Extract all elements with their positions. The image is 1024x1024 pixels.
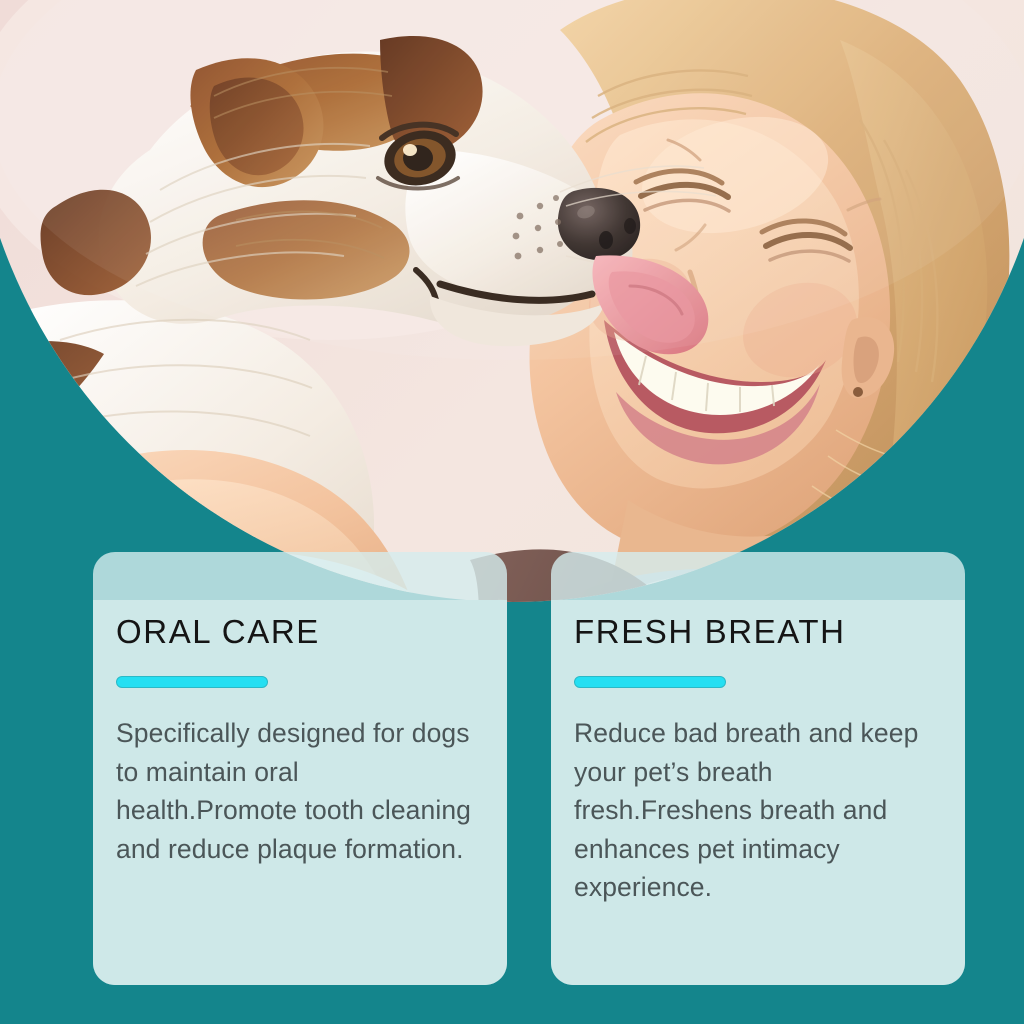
accent-bar-fresh-breath bbox=[574, 676, 726, 688]
accent-bar-oral-care bbox=[116, 676, 268, 688]
feature-card-fresh-breath[interactable]: FRESH BREATH Reduce bad breath and keep … bbox=[551, 552, 965, 985]
card-title-fresh-breath: FRESH BREATH bbox=[574, 614, 939, 650]
poster-canvas: ORAL CARE Specifically designed for dogs… bbox=[0, 0, 1024, 1024]
card-title-oral-care: ORAL CARE bbox=[116, 614, 481, 650]
card-body-oral-care: Specifically designed for dogs to mainta… bbox=[116, 714, 481, 868]
feature-card-oral-care[interactable]: ORAL CARE Specifically designed for dogs… bbox=[93, 552, 507, 985]
card-body-fresh-breath: Reduce bad breath and keep your pet’s br… bbox=[574, 714, 939, 906]
feature-cards: ORAL CARE Specifically designed for dogs… bbox=[93, 552, 965, 985]
